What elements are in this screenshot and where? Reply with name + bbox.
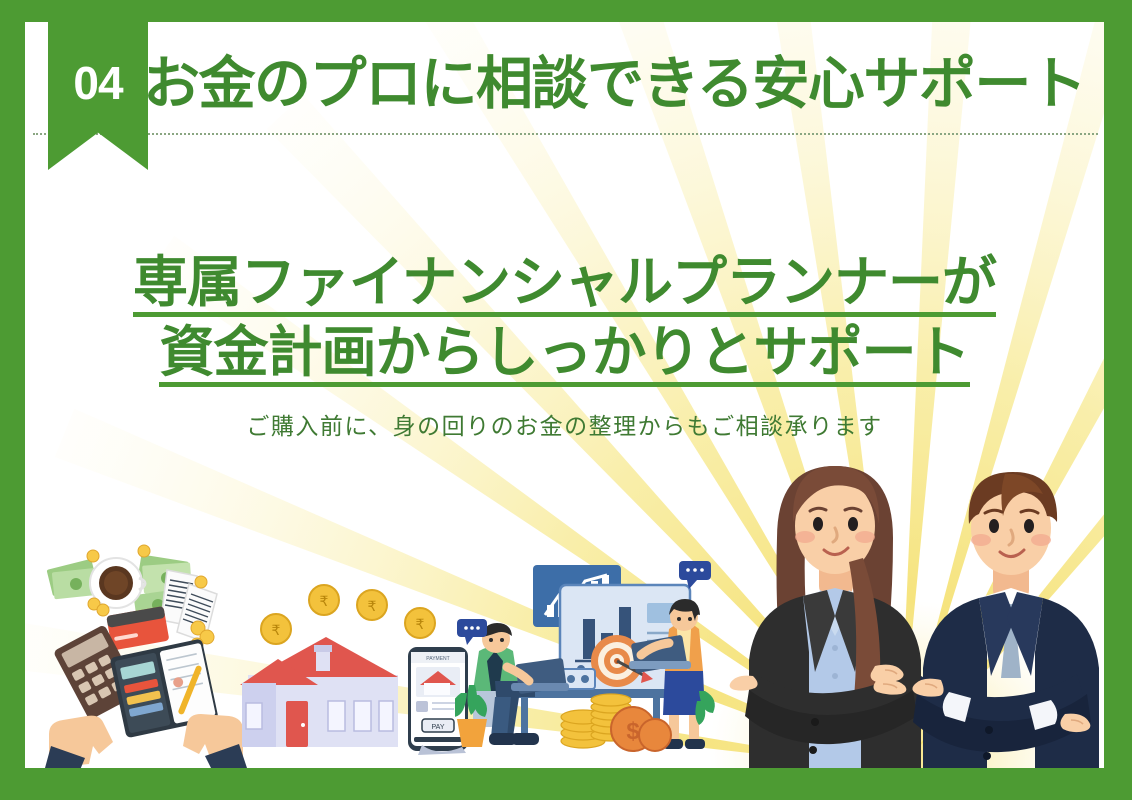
slide-canvas: 04 お金のプロに相談できる安心サポート 専属ファイナンシャルプランナーが 資金… bbox=[25, 22, 1104, 768]
flatlay-finance-illustration bbox=[31, 538, 261, 768]
svg-text:PAYMENT: PAYMENT bbox=[426, 656, 449, 662]
subheading: ご購入前に、身の回りのお金の整理からもご相談承ります bbox=[25, 407, 1104, 441]
house-payment-illustration: ₹ ₹ ₹ ₹ bbox=[240, 553, 490, 768]
headline-line-1: 専属ファイナンシャルプランナーが bbox=[133, 254, 996, 317]
section-number: 04 bbox=[48, 22, 148, 132]
business-analytics-illustration: $ bbox=[455, 533, 720, 768]
svg-text:₹: ₹ bbox=[368, 598, 377, 614]
coin-icon: ₹ ₹ ₹ ₹ bbox=[261, 585, 435, 644]
page-title: お金のプロに相談できる安心サポート bbox=[143, 56, 1093, 113]
illustration-band: ₹ ₹ ₹ ₹ bbox=[25, 438, 1104, 768]
slide-root: 04 お金のプロに相談できる安心サポート 専属ファイナンシャルプランナーが 資金… bbox=[0, 0, 1132, 800]
svg-text:$: $ bbox=[626, 718, 640, 745]
businessman-illustration bbox=[905, 448, 1104, 768]
svg-text:PAY: PAY bbox=[432, 724, 445, 731]
header-dotted-divider bbox=[33, 133, 1098, 135]
main-copy: 専属ファイナンシャルプランナーが 資金計画からしっかりとサポート ご購入前に、身… bbox=[25, 254, 1104, 441]
headline-line-2: 資金計画からしっかりとサポート bbox=[159, 324, 969, 387]
header: 04 お金のプロに相談できる安心サポート bbox=[25, 22, 1104, 162]
svg-text:₹: ₹ bbox=[416, 616, 425, 632]
flatlay-finance-icon bbox=[31, 538, 261, 768]
section-number-ribbon: 04 bbox=[48, 22, 148, 170]
headline-row-2: 資金計画からしっかりとサポート bbox=[25, 324, 1104, 387]
svg-text:₹: ₹ bbox=[272, 622, 281, 638]
house-payment-icon: ₹ ₹ ₹ ₹ bbox=[240, 553, 490, 768]
business-analytics-icon: $ bbox=[455, 533, 720, 768]
businessman-icon bbox=[905, 448, 1104, 768]
headline-row-1: 専属ファイナンシャルプランナーが bbox=[25, 254, 1104, 317]
svg-text:₹: ₹ bbox=[320, 593, 329, 609]
